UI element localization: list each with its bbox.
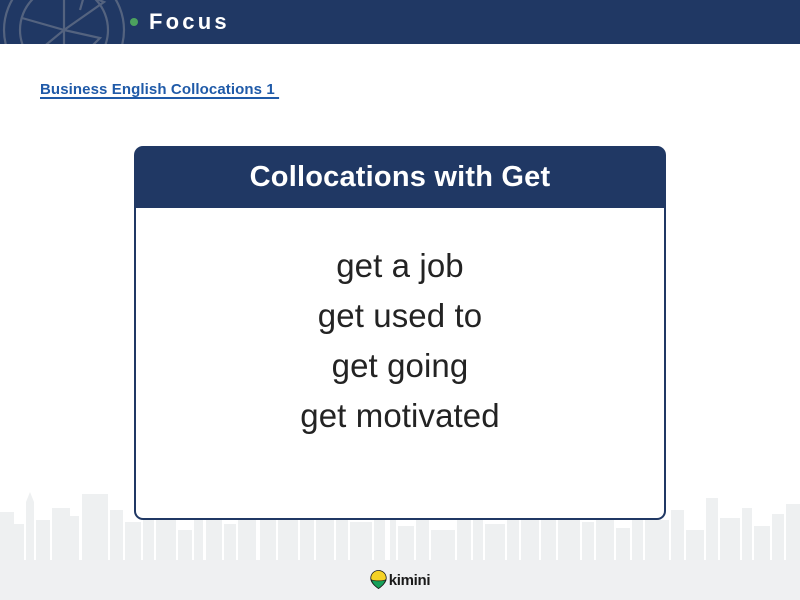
kimini-balloon-icon (370, 570, 387, 589)
slide-canvas: Focus Business English Collocations 1 Co… (0, 0, 800, 600)
list-item: get motivated (136, 391, 664, 441)
list-item: get going (136, 341, 664, 391)
collocations-card: Collocations with Get get a job get used… (134, 146, 666, 520)
list-item: get a job (136, 241, 664, 291)
kimini-swirl-watermark-icon (0, 0, 128, 44)
kimini-wordmark: kimini (389, 573, 431, 588)
collocation-phrase-list: get a job get used to get going get moti… (136, 241, 664, 441)
card-header: Collocations with Get (134, 146, 666, 208)
green-dot-icon (130, 18, 138, 26)
page-title: Focus (149, 11, 230, 33)
card-title: Collocations with Get (250, 163, 551, 192)
list-item: get used to (136, 291, 664, 341)
slide-header-band: Focus (0, 0, 800, 44)
card-body: get a job get used to get going get moti… (134, 208, 666, 520)
lesson-title-link[interactable]: Business English Collocations 1 (40, 81, 279, 98)
kimini-logo: kimini (0, 560, 800, 600)
slide-header-title-group: Focus (130, 0, 230, 44)
